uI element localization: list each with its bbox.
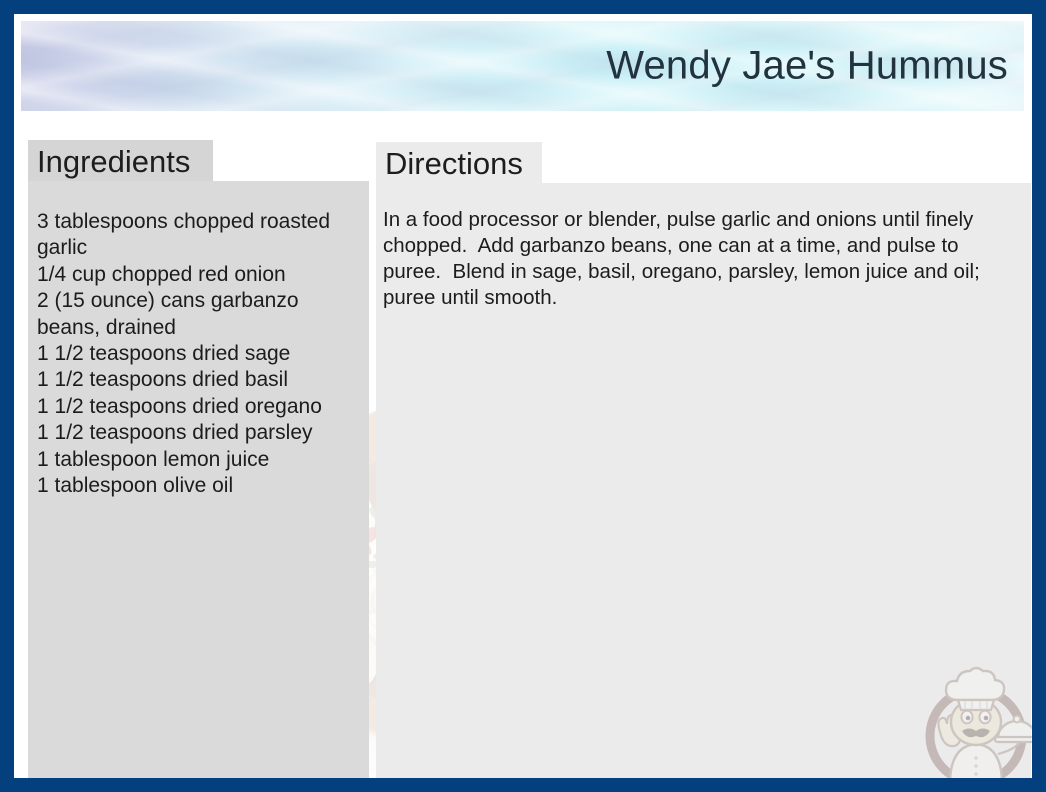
directions-text: In a food processor or blender, pulse ga… — [383, 207, 1007, 311]
recipe-card: Wendy Jae's Hummus Ingredients 3 tablesp… — [0, 0, 1046, 792]
header-banner: Wendy Jae's Hummus — [21, 21, 1024, 111]
directions-heading-tab: Directions — [376, 142, 542, 184]
ingredient-item: 1/4 cup chopped red onion — [37, 262, 361, 288]
page-title: Wendy Jae's Hummus — [606, 44, 1008, 89]
ingredient-item: 1 1/2 teaspoons dried sage — [37, 341, 361, 367]
ingredients-heading: Ingredients — [28, 146, 190, 177]
ingredient-item: 1 1/2 teaspoons dried parsley — [37, 420, 361, 446]
ingredient-item: 3 tablespoons chopped roasted garlic — [37, 209, 361, 262]
ingredient-item: 1 1/2 teaspoons dried oregano — [37, 394, 361, 420]
ingredients-panel: 3 tablespoons chopped roasted garlic1/4 … — [28, 181, 369, 786]
directions-heading: Directions — [376, 148, 523, 179]
ingredient-item: 1 tablespoon olive oil — [37, 473, 361, 499]
ingredients-list: 3 tablespoons chopped roasted garlic1/4 … — [37, 209, 361, 499]
ingredients-heading-tab: Ingredients — [28, 140, 213, 182]
ingredient-item: 1 1/2 teaspoons dried basil — [37, 367, 361, 393]
ingredient-item: 1 tablespoon lemon juice — [37, 447, 361, 473]
ingredient-item: 2 (15 ounce) cans garbanzo beans, draine… — [37, 288, 361, 341]
directions-panel: In a food processor or blender, pulse ga… — [376, 183, 1031, 786]
